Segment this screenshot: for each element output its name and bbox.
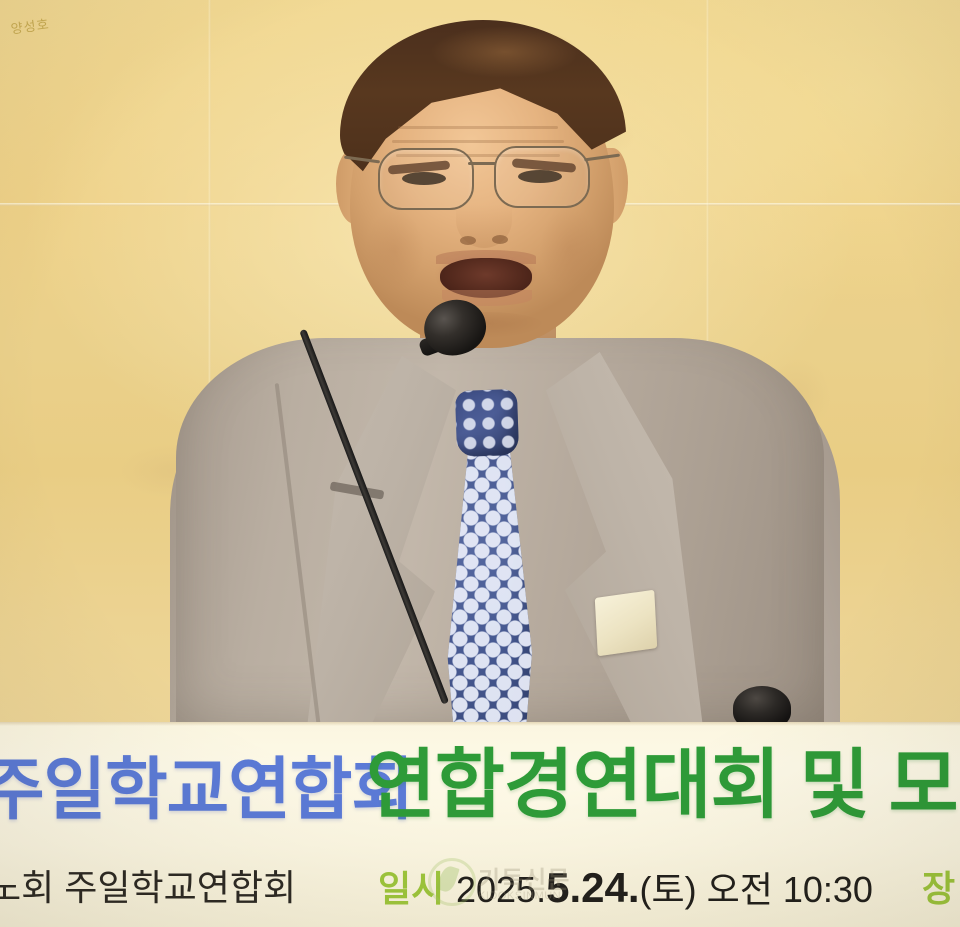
- forehead-wrinkle: [398, 126, 558, 129]
- nostril-left: [460, 236, 476, 245]
- banner-headline: 주일학교연합회 연합경연대회 및 모: [0, 752, 960, 828]
- banner-subline: 노회 주일학교연합회 일시 2025.5.24.(토) 오전 10:30 장: [0, 864, 960, 912]
- banner-headline-green: 연합경연대회 및 모: [366, 748, 958, 824]
- banner-headline-blue: 주일학교연합회: [0, 752, 413, 828]
- forehead-wrinkle: [392, 140, 564, 143]
- cheek-left: [366, 210, 424, 290]
- banner-top-edge: [0, 722, 960, 726]
- glasses-bridge: [468, 162, 496, 165]
- date-suffix: (토) 오전 10:30: [640, 869, 873, 910]
- name-badge-text: 양성호: [0, 12, 61, 39]
- name-badge: [595, 590, 657, 656]
- banner-organization: 노회 주일학교연합회: [0, 864, 296, 912]
- banner-date-value: 2025.5.24.(토) 오전 10:30: [456, 864, 873, 914]
- cheek-right: [540, 208, 598, 290]
- banner-place-label: 장: [922, 865, 955, 913]
- event-banner: 주일학교연합회 연합경연대회 및 모 노회 주일학교연합회 일시 2025.5.…: [0, 722, 960, 927]
- date-prefix: 2025.: [456, 869, 546, 910]
- press-photo: 양성호 주일학교연합회 연합경연: [0, 0, 960, 927]
- banner-date-label: 일시: [378, 865, 444, 913]
- date-emphasis: 5.24.: [546, 864, 639, 911]
- necktie-knot-pattern: [455, 389, 519, 457]
- hair-highlight: [430, 26, 580, 78]
- speaker-figure: 양성호: [0, 0, 960, 760]
- nostril-right: [492, 235, 508, 244]
